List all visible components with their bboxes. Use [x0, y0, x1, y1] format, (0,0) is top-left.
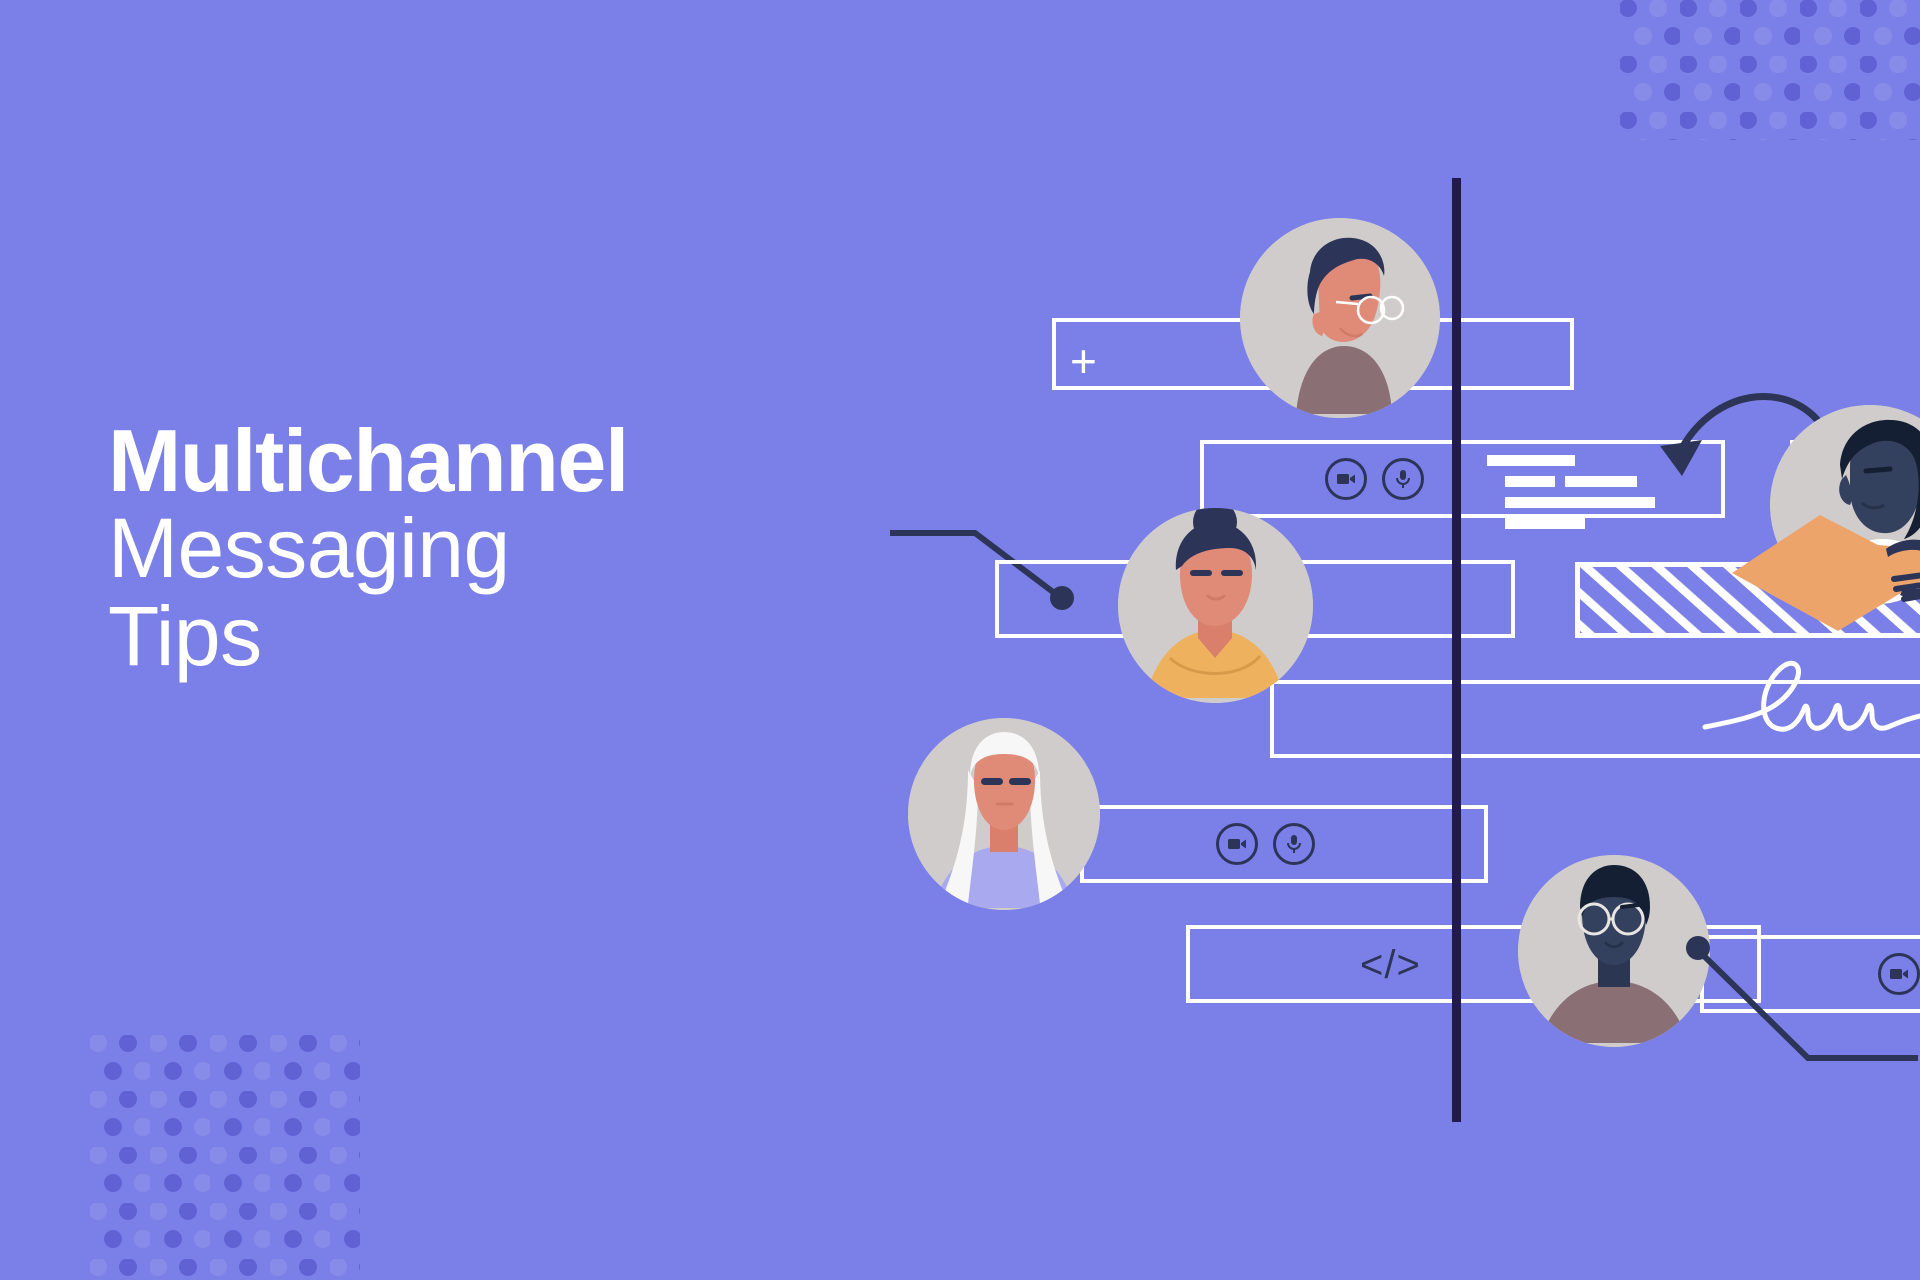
- page-title: Multichannel Messaging Tips: [108, 418, 748, 681]
- plus-icon[interactable]: +: [1070, 338, 1097, 384]
- title-line-2: Messaging: [108, 504, 748, 592]
- vertical-divider: [1452, 178, 1461, 1122]
- text-line: [1505, 518, 1585, 529]
- hero-banner: Multichannel Messaging Tips +: [0, 0, 1920, 1280]
- microphone-icon[interactable]: [1382, 458, 1424, 500]
- avatar-woman-bun[interactable]: [1118, 508, 1313, 703]
- video-camera-icon[interactable]: [1325, 458, 1367, 500]
- code-brackets-icon[interactable]: </>: [1360, 945, 1421, 985]
- text-line: [1505, 497, 1655, 508]
- avatar-man-glasses-profile[interactable]: [1240, 218, 1440, 418]
- dot-pattern-bottom-left: [90, 1035, 360, 1280]
- video-camera-icon[interactable]: [1216, 823, 1258, 865]
- dot-pattern-top-right: [1620, 0, 1920, 140]
- title-line-3: Tips: [108, 592, 748, 680]
- text-line: [1505, 476, 1555, 487]
- avatar-connector-line: [1688, 938, 1918, 1068]
- avatar-round-glasses[interactable]: [1518, 855, 1710, 1047]
- handwritten-signature: [1700, 655, 1920, 750]
- text-line: [1487, 455, 1575, 466]
- avatar-white-hair[interactable]: [908, 718, 1100, 910]
- folder-icon: [1728, 505, 1920, 635]
- microphone-icon[interactable]: [1273, 823, 1315, 865]
- title-line-1: Multichannel: [108, 418, 748, 504]
